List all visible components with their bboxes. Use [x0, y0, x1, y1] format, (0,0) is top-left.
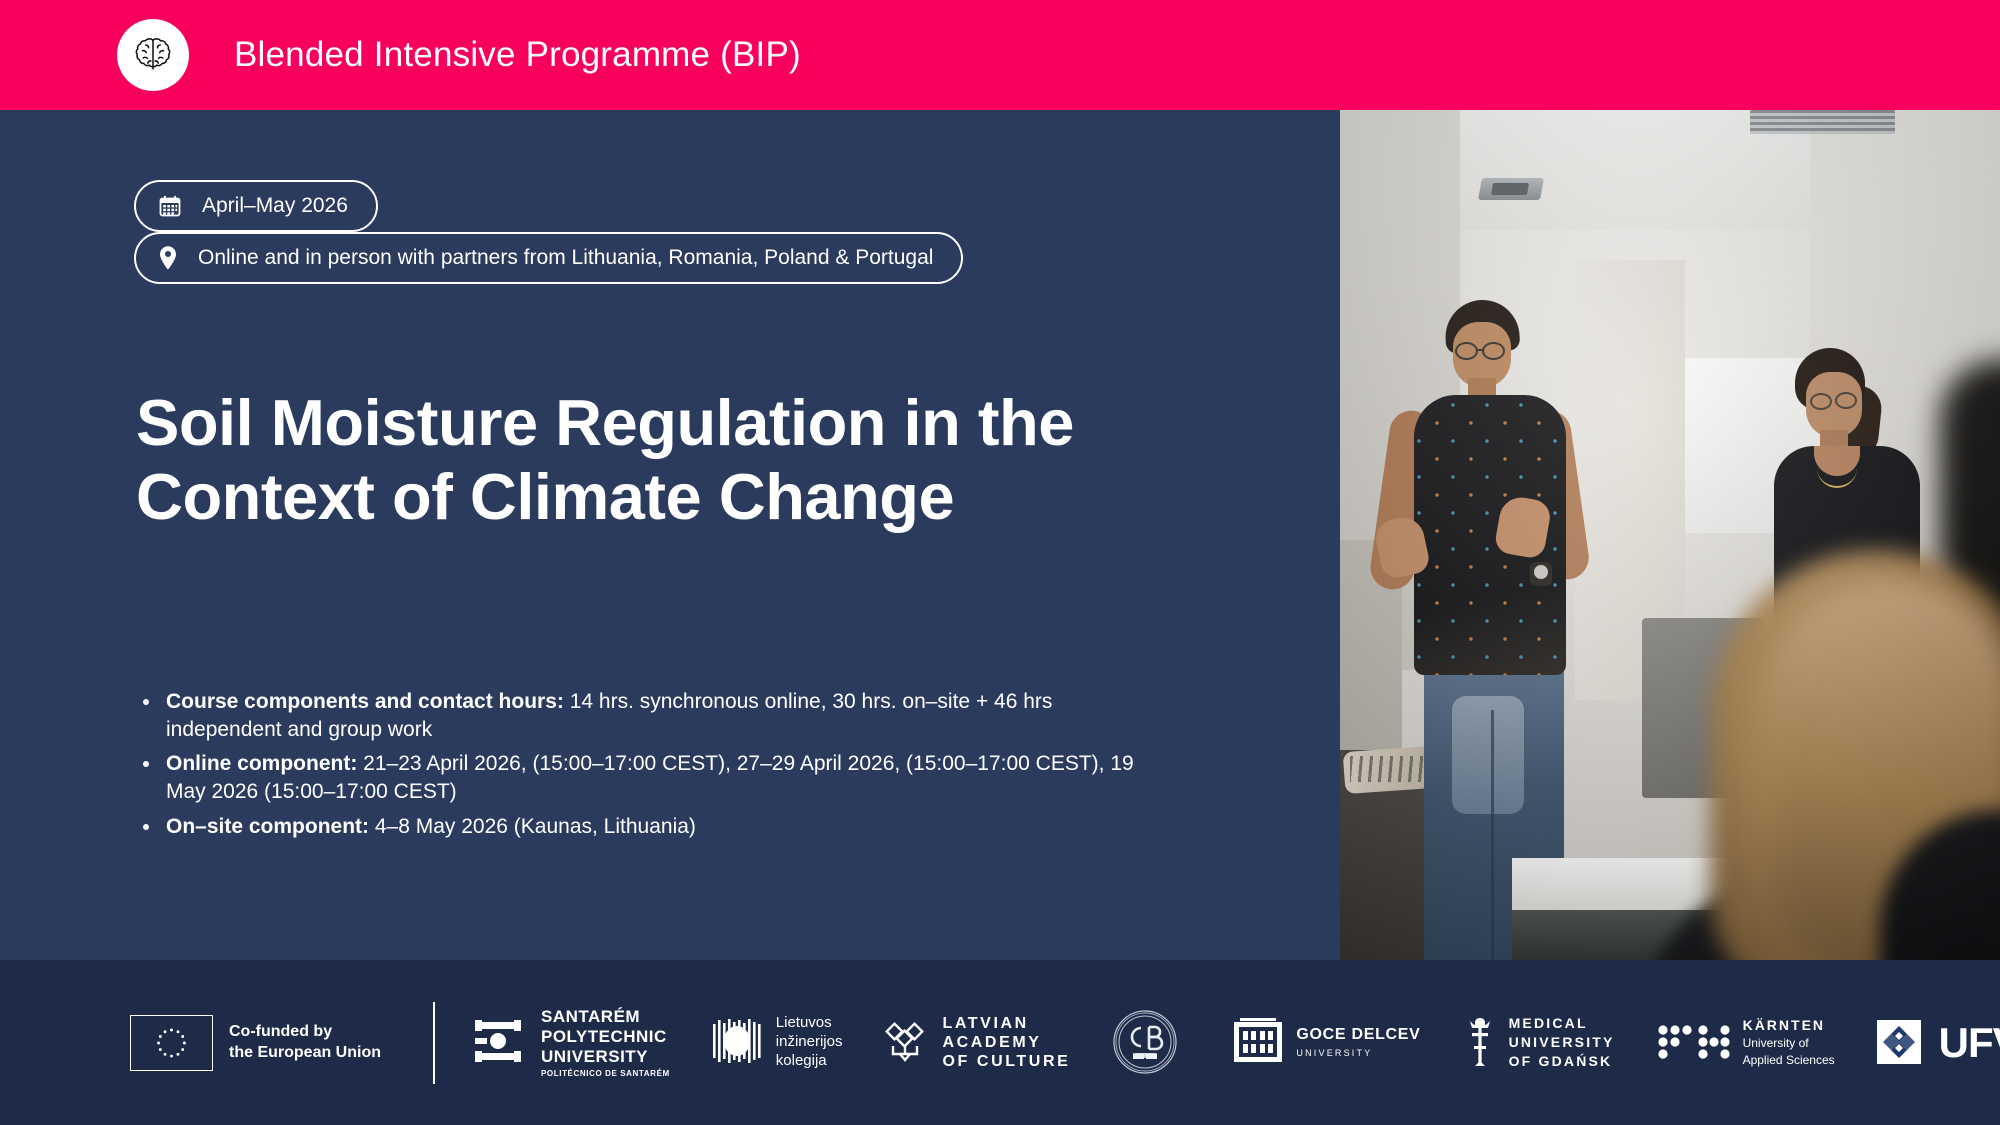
course-details-list: Course components and contact hours: 14 … [138, 688, 1138, 848]
goce-line-1: GOCE DELCEV [1296, 1026, 1420, 1045]
eu-line-2: the European Union [229, 1043, 381, 1064]
brain-icon [117, 19, 189, 91]
bullet-label: Online component: [166, 752, 357, 775]
partner-logo-cib-seal [1112, 1009, 1190, 1075]
page-title: Soil Moisture Regulation in the Context … [136, 386, 1116, 534]
list-item: Online component: 21–23 April 2026, (15:… [138, 750, 1138, 805]
partner-logos: SANTARÉM POLYTECHNIC UNIVERSITY POLITÉCN… [471, 1007, 2000, 1079]
santarem-logo-icon [471, 1018, 529, 1066]
list-item: Course components and contact hours: 14 … [138, 688, 1138, 743]
santarem-subtitle: POLITÉCNICO DE SANTARÉM [541, 1069, 670, 1078]
header-title: Blended Intensive Programme (BIP) [234, 35, 801, 75]
partner-logo-santarem: SANTARÉM POLYTECHNIC UNIVERSITY POLITÉCN… [471, 1007, 670, 1079]
list-item: On–site component: 4–8 May 2026 (Kaunas,… [138, 813, 1138, 841]
partner-logo-goce-delcev: GOCE DELCEV UNIVERSITY [1232, 1016, 1420, 1068]
partner-logo-medical-university-gdansk: MEDICAL UNIVERSITY OF GDAŃSK [1463, 1014, 1615, 1071]
liek-line-1: Lietuvos [776, 1014, 843, 1033]
partner-logo-karnten: KÄRNTEN University of Applied Sciences [1657, 1017, 1835, 1068]
chip-dates-label: April–May 2026 [202, 194, 348, 218]
page-header: Blended Intensive Programme (BIP) [0, 0, 2000, 110]
eu-line-1: Co-funded by [229, 1022, 381, 1043]
bip-poster: Blended Intensive Programme (BIP) [0, 0, 2000, 1125]
latvian-academy-logo-icon [884, 1019, 930, 1065]
location-pin-icon [158, 245, 178, 271]
chip-location-label: Online and in person with partners from … [198, 246, 933, 270]
bullet-text: 4–8 May 2026 (Kaunas, Lithuania) [369, 815, 696, 838]
bullet-label: On–site component: [166, 815, 369, 838]
ufv-wordmark: UFV [1939, 1018, 2000, 1068]
lietuvos-inzinerijos-logo-icon [712, 1017, 764, 1067]
partners-footer: Co-funded by the European Union [0, 960, 2000, 1125]
bullet-label: Course components and contact hours: [166, 690, 564, 713]
photo-vignette [1340, 110, 2000, 960]
karnten-logo-icon [1657, 1022, 1731, 1062]
liek-line-2: inžinerijos [776, 1033, 843, 1052]
lak-line-3: OF CULTURE [942, 1052, 1070, 1071]
lak-line-1: LATVIAN [942, 1014, 1070, 1033]
footer-divider [433, 1002, 435, 1084]
eu-cofunding-logo: Co-funded by the European Union [130, 1015, 381, 1071]
hero-photo [1340, 110, 2000, 960]
medical-university-gdansk-logo-icon [1463, 1016, 1497, 1068]
karnten-line-1: KÄRNTEN [1743, 1017, 1835, 1034]
mug-line-2: UNIVERSITY [1509, 1033, 1615, 1052]
partner-logo-latvian-academy: LATVIAN ACADEMY OF CULTURE [884, 1014, 1070, 1072]
ufv-logo-icon [1877, 1020, 1921, 1064]
info-chips: April–May 2026 Online and in person with… [134, 180, 963, 284]
eu-flag-icon [130, 1015, 213, 1071]
santarem-line-3: UNIVERSITY [541, 1047, 670, 1067]
karnten-line-3: Applied Sciences [1743, 1053, 1835, 1068]
karnten-line-2: University of [1743, 1036, 1835, 1051]
santarem-line-2: POLYTECHNIC [541, 1027, 670, 1047]
cib-seal-logo-icon [1112, 1009, 1178, 1075]
chip-dates[interactable]: April–May 2026 [134, 180, 378, 232]
goce-delcev-logo-icon [1232, 1016, 1284, 1068]
liek-line-3: kolegija [776, 1052, 843, 1071]
partner-logo-lietuvos-inzinerijos: Lietuvos inžinerijos kolegija [712, 1014, 843, 1070]
mug-line-3: OF GDAŃSK [1509, 1052, 1615, 1071]
mug-line-1: MEDICAL [1509, 1014, 1615, 1033]
lak-line-2: ACADEMY [942, 1033, 1070, 1052]
calendar-icon [158, 194, 182, 218]
goce-line-2: UNIVERSITY [1296, 1048, 1420, 1059]
santarem-line-1: SANTARÉM [541, 1007, 670, 1027]
chip-location[interactable]: Online and in person with partners from … [134, 232, 963, 284]
partner-logo-ufv: UFV Universidad Francisco de Vitoria [1877, 1018, 2000, 1068]
